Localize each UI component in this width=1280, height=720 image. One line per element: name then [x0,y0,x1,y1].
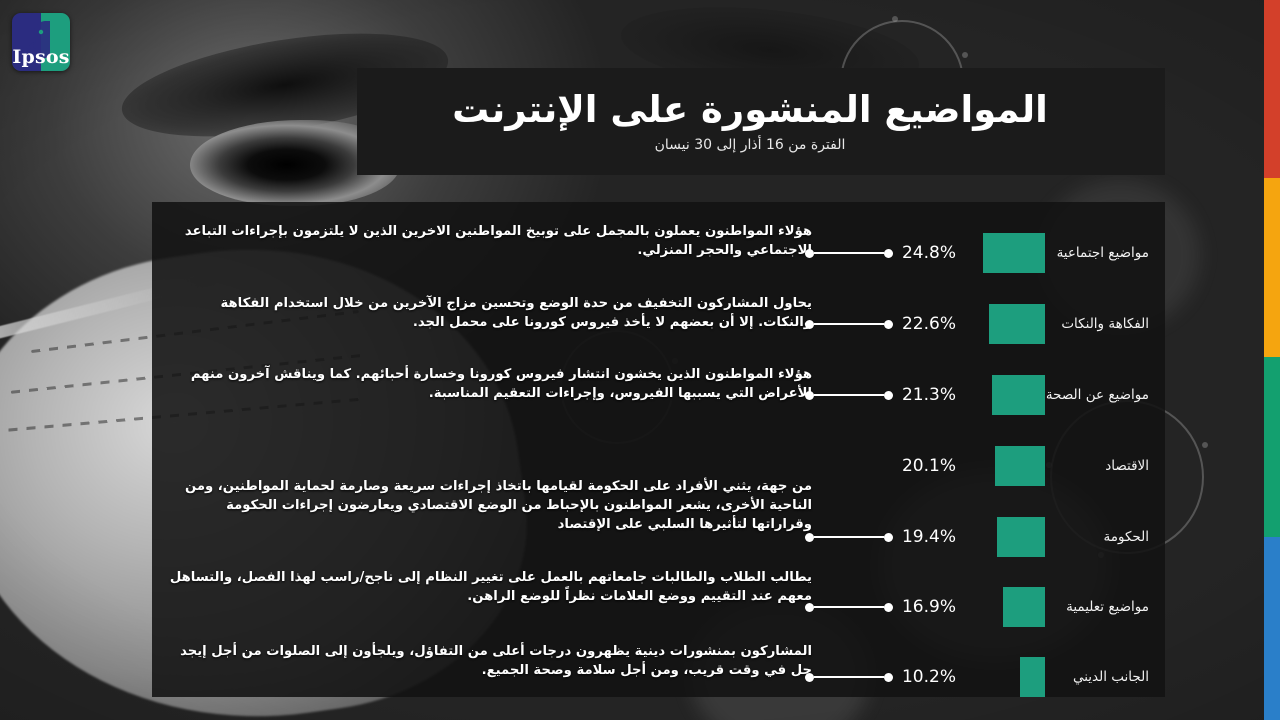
bar-track [965,304,1045,344]
chart-row: الاقتصاد20.1% [805,435,1157,497]
bar-track [965,587,1045,627]
bar [989,304,1046,344]
rail-segment-blue [1264,537,1280,720]
chart-row: مواضيع عن الصحة21.3% [805,364,1157,426]
connector-line [805,391,893,400]
connector-dot [805,533,814,542]
bar-track [965,517,1045,557]
bar [1020,657,1046,697]
bar [997,517,1046,557]
chart-row: الحكومة19.4% [805,506,1157,568]
content-panel: هؤلاء المواطنون يعملون بالمجمل على توبيخ… [152,202,1165,697]
ipsos-logo: Ipsos [12,13,70,71]
rail-segment-teal [1264,357,1280,537]
rail-segment-red [1264,0,1280,178]
connector-dot [884,249,893,258]
connector-dot [805,673,814,682]
connector-dot [884,533,893,542]
bar [995,446,1045,486]
connector-dot [805,391,814,400]
logo-wordmark: Ipsos [12,48,70,67]
insight-note: من جهة، يثني الأفراد على الحكومة لقيامها… [164,477,812,534]
connector-line [805,603,893,612]
connector-stem [814,394,884,396]
bar-track [965,233,1045,273]
connector-line [805,673,893,682]
bar-value-label: 10.2% [893,667,965,687]
bar-category-label: مواضيع تعليمية [1045,599,1157,615]
connector-dot [884,391,893,400]
insight-note: المشاركون بمنشورات دينية يظهرون درجات أع… [164,642,812,680]
bar-category-label: مواضيع اجتماعية [1045,245,1157,261]
insight-note: يحاول المشاركون التخفيف من حدة الوضع وتح… [164,294,812,332]
bar-category-label: الجانب الديني [1045,669,1157,685]
bar [983,233,1045,273]
bar-category-label: الحكومة [1045,529,1157,545]
connector-stem [814,252,884,254]
bar-value-label: 21.3% [893,385,965,405]
chart-row: الفكاهة والنكات22.6% [805,293,1157,355]
connector-line [805,533,893,542]
connector-dot [884,320,893,329]
bar-track [965,446,1045,486]
insight-notes: هؤلاء المواطنون يعملون بالمجمل على توبيخ… [152,202,812,697]
connector-stem [814,676,884,678]
insight-note: هؤلاء المواطنون الذين يخشون انتشار فيروس… [164,365,812,403]
bar-value-label: 22.6% [893,314,965,334]
connector-stem [814,323,884,325]
rail-segment-amber [1264,178,1280,357]
chart-row: مواضيع تعليمية16.9% [805,576,1157,638]
bar-track [965,375,1045,415]
topics-bar-chart: مواضيع اجتماعية24.8%الفكاهة والنكات22.6%… [805,202,1157,697]
bar-category-label: الفكاهة والنكات [1045,316,1157,332]
bar-value-label: 20.1% [893,456,965,476]
bar-category-label: الاقتصاد [1045,458,1157,474]
connector-stem [814,536,884,538]
page-title: المواضيع المنشورة على الإنترنت [357,89,1143,130]
connector-line [805,320,893,329]
chart-row: مواضيع اجتماعية24.8% [805,222,1157,284]
connector-dot [884,673,893,682]
connector-stem [814,606,884,608]
bar-category-label: مواضيع عن الصحة [1045,387,1157,403]
insight-note: هؤلاء المواطنون يعملون بالمجمل على توبيخ… [164,222,812,260]
bar-value-label: 19.4% [893,527,965,547]
color-rail [1264,0,1280,720]
bar-value-label: 24.8% [893,243,965,263]
connector-dot [884,603,893,612]
connector-dot [805,320,814,329]
bar [1003,587,1045,627]
insight-note: يطالب الطلاب والطالبات جامعاتهم بالعمل ع… [164,568,812,606]
slide-canvas: Ipsos المواضيع المنشورة على الإنترنت الف… [0,0,1280,720]
title-banner: المواضيع المنشورة على الإنترنت الفترة من… [357,68,1165,175]
bar [992,375,1045,415]
connector-dot [805,249,814,258]
chart-row: الجانب الديني10.2% [805,646,1157,708]
bar-value-label: 16.9% [893,597,965,617]
page-subtitle: الفترة من 16 أذار إلى 30 نيسان [357,137,1143,154]
connector-line [805,249,893,258]
bar-track [965,657,1045,697]
connector-dot [805,603,814,612]
